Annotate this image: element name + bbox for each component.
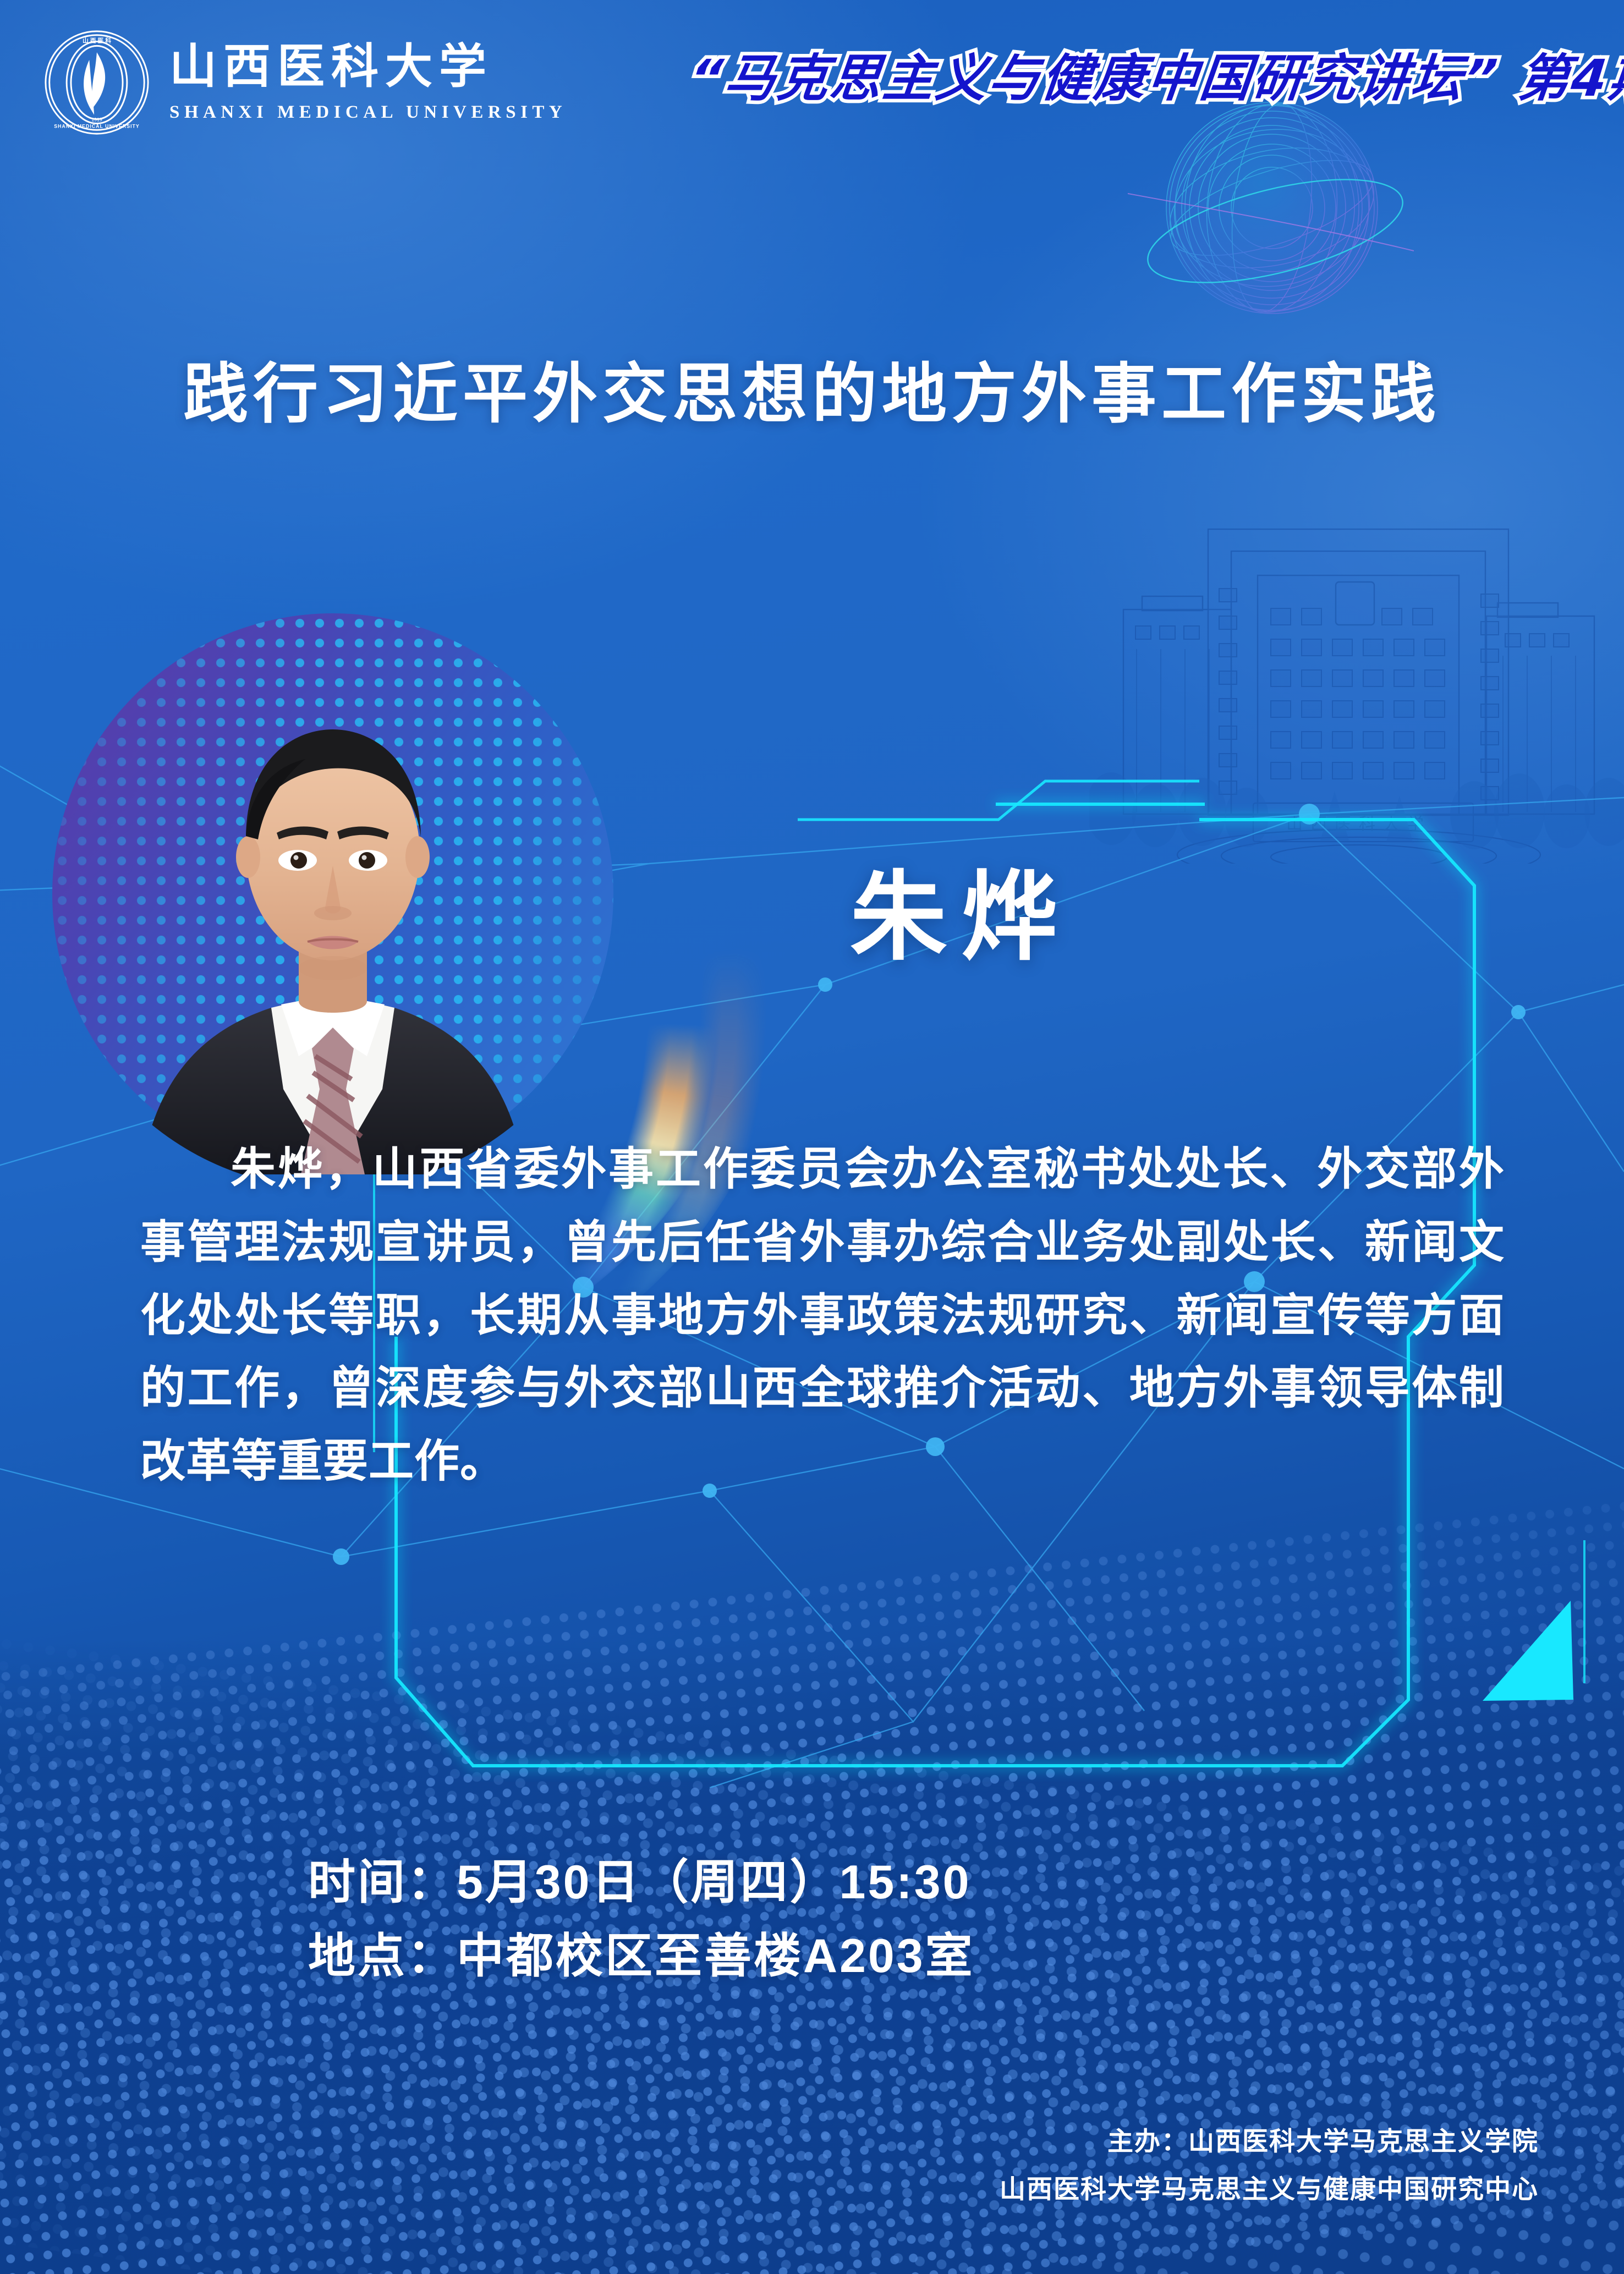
speaker-name: 朱烨 (850, 869, 1072, 966)
event-details: 时间：5月30日（周四）15:30 地点：中都校区至善楼A203室 (308, 1845, 975, 1993)
university-name-en: SHANXI MEDICAL UNIVERSITY (169, 102, 567, 123)
svg-text:1919: 1919 (91, 117, 102, 123)
avatar (124, 671, 542, 1174)
cyan-triangle-accent (1483, 1601, 1573, 1701)
university-name-block: 山西医科大学 SHANXI MEDICAL UNIVERSITY (169, 43, 567, 123)
event-location: 地点：中都校区至善楼A203室 (308, 1919, 975, 1993)
svg-text:SHANXI MEDICAL UNIVERSITY: SHANXI MEDICAL UNIVERSITY (54, 123, 140, 129)
forum-series-title: “马克思主义与健康中国研究讲坛” 第4期 (687, 37, 1624, 111)
university-seal-icon: 山 西 医 科 SHANXI MEDICAL UNIVERSITY 1919 (43, 29, 151, 136)
speaker-bio: 朱烨，山西省委外事工作委员会办公室秘书处处长、外交部外事管理法规宣讲员，曾先后任… (140, 1133, 1505, 1498)
event-time: 时间：5月30日（周四）15:30 (308, 1845, 975, 1919)
seminar-poster: 山西医科大学 (0, 0, 1624, 2274)
university-name-cn: 山西医科大学 (169, 43, 567, 90)
svg-text:山 西 医 科: 山 西 医 科 (83, 37, 111, 44)
footer-organizer: 主办：山西医科大学马克思主义学院 (1000, 2118, 1539, 2166)
footer-research-center: 山西医科大学马克思主义与健康中国研究中心 (1000, 2166, 1539, 2213)
speaker-portrait (52, 613, 613, 1174)
university-logo: 山 西 医 科 SHANXI MEDICAL UNIVERSITY 1919 山… (43, 29, 567, 136)
page-title: 践行习近平外交思想的地方外事工作实践 (0, 341, 1624, 435)
poster-footer: 主办：山西医科大学马克思主义学院 山西医科大学马克思主义与健康中国研究中心 (1000, 2118, 1539, 2213)
